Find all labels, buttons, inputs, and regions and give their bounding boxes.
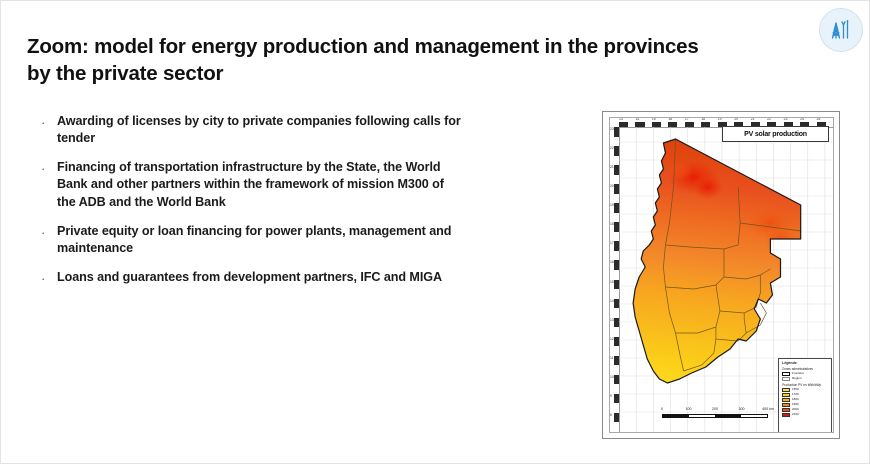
scalebar-label: 0 [661,407,663,411]
bullet-marker-icon: · [41,269,57,288]
y-axis-tick-label: 16 [610,260,614,264]
y-axis-tick-label: 22 [610,146,614,150]
list-item: · Loans and guarantees from development … [41,269,461,288]
y-axis-tick-label: 10 [610,375,614,379]
legend-swatch-2000 [782,408,790,412]
legend-label: 1800 [792,398,799,402]
bullet-marker-icon: · [41,159,57,178]
scalebar-segment [741,415,767,417]
x-axis-tick-label: 21 [751,118,755,121]
legend-item: 1900 [782,403,828,407]
scalebar-bar [662,414,768,418]
y-axis-tick-label: 15 [610,280,614,284]
x-axis-tick-label: 24 [800,118,804,121]
list-item-text: Private equity or loan financing for pow… [57,223,461,257]
legend-label: 1700 [792,393,799,397]
bullet-marker-icon: · [41,113,57,132]
legend-item: 1700 [782,393,828,397]
list-item: · Financing of transportation infrastruc… [41,159,461,210]
map-frame: 13141516171819202122232425 2322212019181… [609,117,834,433]
scalebar-labels: 0 100 200 300 400 km [662,407,768,414]
legend-item: 1550 [782,388,828,392]
y-axis-tick-label: 23 [610,127,614,131]
x-axis-tick-label: 22 [767,118,771,121]
x-axis-tick-label: 18 [701,118,705,121]
legend-label: 1550 [792,388,799,392]
map-title-text: PV solar production [744,131,807,138]
scalebar-label: 100 [686,407,692,411]
legend-swatch-2100 [782,413,790,417]
x-axis-tick-label: 23 [784,118,788,121]
slide-canvas: Zoom: model for energy production and ma… [0,0,870,464]
scalebar-label: 400 km [762,407,774,411]
legend-item: 1800 [782,398,828,402]
x-axis-tick-label: 20 [734,118,738,121]
page-title: Zoom: model for energy production and ma… [27,33,767,87]
x-axis-tick-label: 19 [718,118,722,121]
y-axis-tick-label: 19 [610,203,614,207]
y-axis-tick-label: 8 [610,413,612,417]
x-axis-tick-label: 17 [685,118,689,121]
legend-swatch-border [782,372,790,376]
y-axis-tick-label: 18 [610,222,614,226]
legend-item: 2100 [782,413,828,417]
scalebar-segment [715,415,741,417]
legend-label: 1900 [792,403,799,407]
energy-infrastructure-logo [819,8,863,52]
x-axis-tick-label: 14 [635,118,639,121]
legend-label: 2100 [792,413,799,417]
legend-swatch-1900 [782,403,790,407]
legend-item: 2000 [782,408,828,412]
list-item: · Private equity or loan financing for p… [41,223,461,257]
list-item: · Awarding of licenses by city to privat… [41,113,461,147]
scalebar-label: 300 [739,407,745,411]
x-axis-tick-label: 25 [817,118,821,121]
map-legend: Légende Zones administratives Frontière … [778,358,832,433]
x-axis-tick-label: 13 [619,118,623,121]
x-axis-tick-label: 16 [668,118,672,121]
list-item-text: Loans and guarantees from development pa… [57,269,461,286]
legend-section-admin: Zones administratives [782,367,828,371]
y-axis-tick-label: 21 [610,165,614,169]
legend-swatch-1800 [782,398,790,402]
list-item-text: Financing of transportation infrastructu… [57,159,461,210]
legend-label: 2000 [792,408,799,412]
pv-solar-production-figure: 13141516171819202122232425 2322212019181… [602,111,840,439]
bullet-marker-icon: · [41,223,57,242]
legend-swatch-1550 [782,388,790,392]
list-item-text: Awarding of licenses by city to private … [57,113,461,147]
legend-label: Frontière [792,372,804,376]
legend-label: Région [792,377,802,381]
map-title-box: PV solar production [722,126,829,142]
page-title-line-2: by the private sector [27,60,767,87]
y-axis-tick-label: 11 [610,356,614,360]
page-title-line-1: Zoom: model for energy production and ma… [27,33,767,60]
y-axis-tick-label: 17 [610,241,614,245]
y-axis-tick-label: 13 [610,318,614,322]
legend-title: Légende [782,361,828,365]
scalebar-segment [689,415,715,417]
legend-swatch-1700 [782,393,790,397]
scalebar-label: 200 [712,407,718,411]
legend-swatch-region [782,377,790,381]
y-axis-tick-label: 14 [610,299,614,303]
map-scalebar: 0 100 200 300 400 km [662,407,768,418]
legend-item: Frontière [782,372,828,376]
legend-item: Région [782,377,828,381]
scalebar-segment [663,415,689,417]
x-axis-tick-label: 15 [652,118,656,121]
legend-section-values: Production PV en kWh/kWp [782,383,828,387]
y-axis-tick-label: 9 [610,394,612,398]
y-axis-tick-label: 20 [610,184,614,188]
bullet-list: · Awarding of licenses by city to privat… [41,113,461,300]
y-axis-tick-label: 12 [610,337,614,341]
